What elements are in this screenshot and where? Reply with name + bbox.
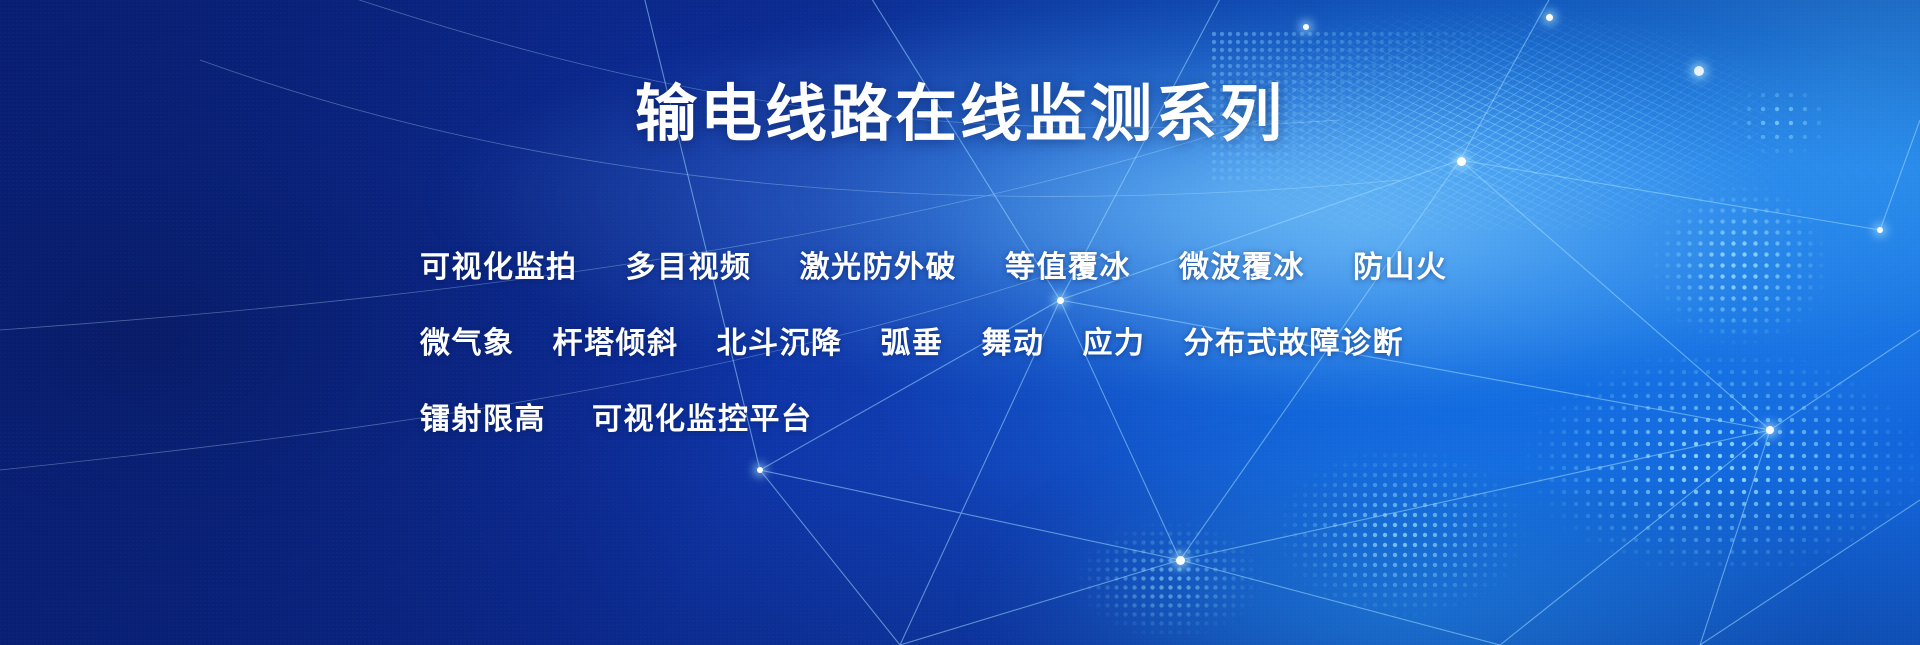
product-tag-stress[interactable]: 应力 bbox=[1083, 326, 1146, 362]
product-tag-wildfire-prevention[interactable]: 防山火 bbox=[1353, 250, 1448, 286]
product-tag-visual-monitoring-platform[interactable]: 可视化监控平台 bbox=[592, 402, 813, 438]
banner-title: 输电线路在线监测系列 bbox=[0, 84, 1920, 146]
product-tag-visual-monitoring[interactable]: 可视化监拍 bbox=[420, 250, 578, 286]
product-tag-row-3: 镭射限高 可视化监控平台 bbox=[420, 402, 1580, 438]
product-tag-tower-tilt[interactable]: 杆塔倾斜 bbox=[553, 326, 679, 362]
product-tag-list: 可视化监拍 多目视频 激光防外破 等值覆冰 微波覆冰 防山火 微气象 杆塔倾斜 … bbox=[420, 250, 1580, 438]
banner-content: 输电线路在线监测系列 可视化监拍 多目视频 激光防外破 等值覆冰 微波覆冰 防山… bbox=[0, 0, 1920, 645]
product-tag-microwave-icing[interactable]: 微波覆冰 bbox=[1179, 250, 1305, 286]
product-tag-beidou-settlement[interactable]: 北斗沉降 bbox=[717, 326, 843, 362]
product-tag-sag[interactable]: 弧垂 bbox=[881, 326, 944, 362]
product-tag-galloping[interactable]: 舞动 bbox=[982, 326, 1045, 362]
product-tag-multi-lens-video[interactable]: 多目视频 bbox=[626, 250, 752, 286]
product-tag-micro-meteorology[interactable]: 微气象 bbox=[420, 326, 515, 362]
hero-banner: 输电线路在线监测系列 可视化监拍 多目视频 激光防外破 等值覆冰 微波覆冰 防山… bbox=[0, 0, 1920, 645]
product-tag-distributed-fault-diagnosis[interactable]: 分布式故障诊断 bbox=[1184, 326, 1405, 362]
product-tag-row-1: 可视化监拍 多目视频 激光防外破 等值覆冰 微波覆冰 防山火 bbox=[420, 250, 1580, 286]
product-tag-equivalent-icing[interactable]: 等值覆冰 bbox=[1005, 250, 1131, 286]
product-tag-row-2: 微气象 杆塔倾斜 北斗沉降 弧垂 舞动 应力 分布式故障诊断 bbox=[420, 326, 1580, 362]
product-tag-laser-height-limit[interactable]: 镭射限高 bbox=[420, 402, 546, 438]
product-tag-laser-intrusion[interactable]: 激光防外破 bbox=[800, 250, 958, 286]
